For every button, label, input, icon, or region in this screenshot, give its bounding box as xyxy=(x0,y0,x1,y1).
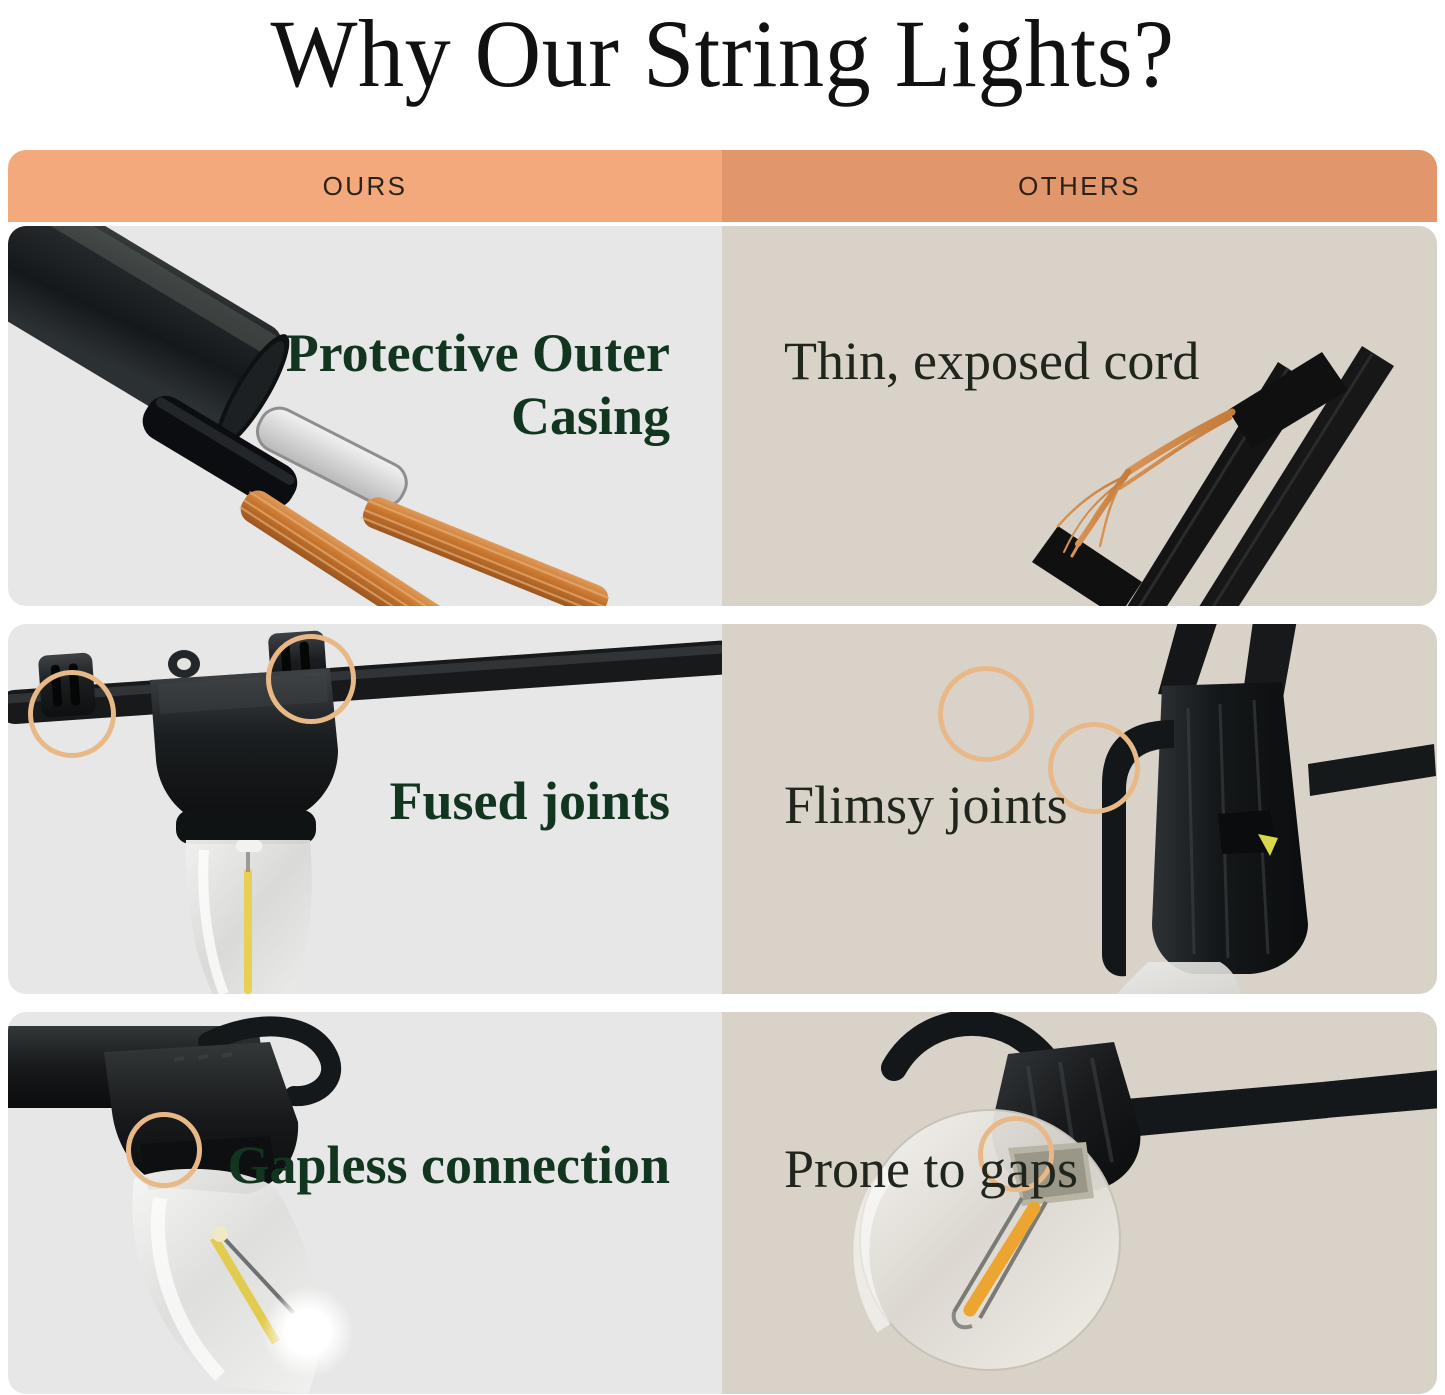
column-header-ours: OURS xyxy=(8,150,722,222)
label-others-row3: Prone to gaps xyxy=(784,1138,1214,1201)
page-title: Why Our String Lights? xyxy=(29,0,1416,102)
cell-ours-fused-joints: Fused joints xyxy=(8,624,722,994)
table-header-row: OURS OTHERS xyxy=(8,150,1437,222)
label-ours-row2: Fused joints xyxy=(150,770,670,833)
column-header-others: OTHERS xyxy=(722,150,1437,222)
label-others-row2: Flimsy joints xyxy=(784,774,1214,837)
table-row: Protective Outer Casing xyxy=(8,226,1437,606)
cell-others-thin-cord: Thin, exposed cord xyxy=(722,226,1437,606)
cell-others-flimsy-joints: Flimsy joints xyxy=(722,624,1437,994)
highlight-circle-joint-left xyxy=(28,670,116,758)
image-thin-exposed-cord xyxy=(722,226,1437,606)
image-gapless-connection xyxy=(8,1012,722,1394)
cell-others-gaps: Prone to gaps xyxy=(722,1012,1437,1394)
cell-ours-casing: Protective Outer Casing xyxy=(8,226,722,606)
label-others-row1: Thin, exposed cord xyxy=(784,330,1214,393)
highlight-circle-flimsy-left xyxy=(938,666,1034,762)
table-row: Gapless connection xyxy=(8,1012,1437,1394)
label-ours-row1: Protective Outer Casing xyxy=(150,322,670,447)
highlight-circle-joint-right xyxy=(266,634,356,724)
comparison-table: OURS OTHERS xyxy=(8,150,1437,1394)
cell-ours-gapless: Gapless connection xyxy=(8,1012,722,1394)
label-ours-row3: Gapless connection xyxy=(150,1134,670,1197)
table-row: Fused joints xyxy=(8,624,1437,994)
image-prone-to-gaps xyxy=(722,1012,1437,1394)
